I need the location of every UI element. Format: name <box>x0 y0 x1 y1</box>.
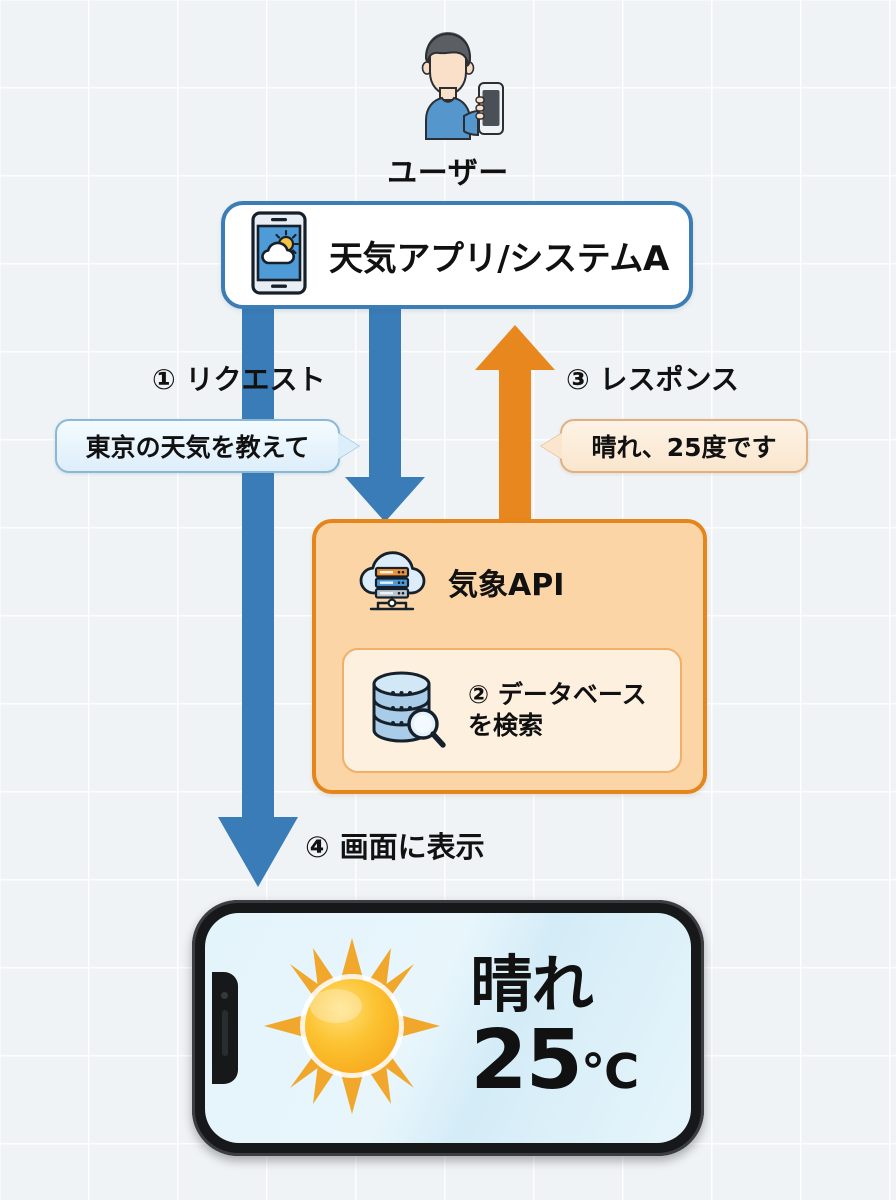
earpiece-speaker <box>222 1010 228 1056</box>
response-speech-bubble: 晴れ、25度です <box>560 419 808 473</box>
database-search-label: ② データベース を検索 <box>468 680 647 741</box>
user-label: ユーザー <box>0 148 896 192</box>
temperature-unit: ℃ <box>581 1044 638 1100</box>
phone-notch <box>212 972 238 1084</box>
database-search-label-line2: を検索 <box>468 711 647 742</box>
result-phone-mockup: 晴れ 25℃ <box>192 900 704 1156</box>
api-title: 気象API <box>448 560 564 604</box>
request-speech-bubble: 東京の天気を教えて <box>55 419 340 473</box>
arrow-head <box>475 325 555 370</box>
step-4-label: ④ 画面に表示 <box>305 824 485 866</box>
user-node: ユーザー <box>0 24 896 192</box>
weather-readout: 晴れ 25℃ <box>470 954 637 1102</box>
arrow-shaft <box>499 370 531 522</box>
weather-app-node[interactable]: 天気アプリ/システムA <box>221 201 693 309</box>
user-with-smartphone-icon <box>388 127 508 146</box>
weather-app-title: 天気アプリ/システムA <box>329 231 669 280</box>
temperature-value: 25 <box>470 1013 581 1108</box>
arrow-head <box>218 817 298 887</box>
weather-condition-text: 晴れ <box>470 954 593 1016</box>
database-search-node[interactable]: ② データベース を検索 <box>342 648 682 773</box>
step-1-label: ① リクエスト <box>152 358 325 398</box>
phone-screen: 晴れ 25℃ <box>205 913 691 1143</box>
diagram-canvas: ユーザー <box>0 0 896 1200</box>
sun-icon <box>258 932 446 1124</box>
temperature-readout: 25℃ <box>470 1020 637 1102</box>
step-3-label: ③ レスポンス <box>566 358 739 398</box>
front-camera-icon <box>221 992 228 999</box>
database-search-icon <box>366 666 450 756</box>
smartphone-weather-app-icon <box>251 211 307 299</box>
database-search-label-line1: ② データベース <box>468 680 647 711</box>
cloud-server-icon <box>354 545 428 619</box>
arrow-shaft <box>369 305 401 481</box>
api-header: 気象API <box>316 523 703 619</box>
weather-api-node[interactable]: 気象API <box>312 519 707 794</box>
arrow-head <box>345 477 425 522</box>
